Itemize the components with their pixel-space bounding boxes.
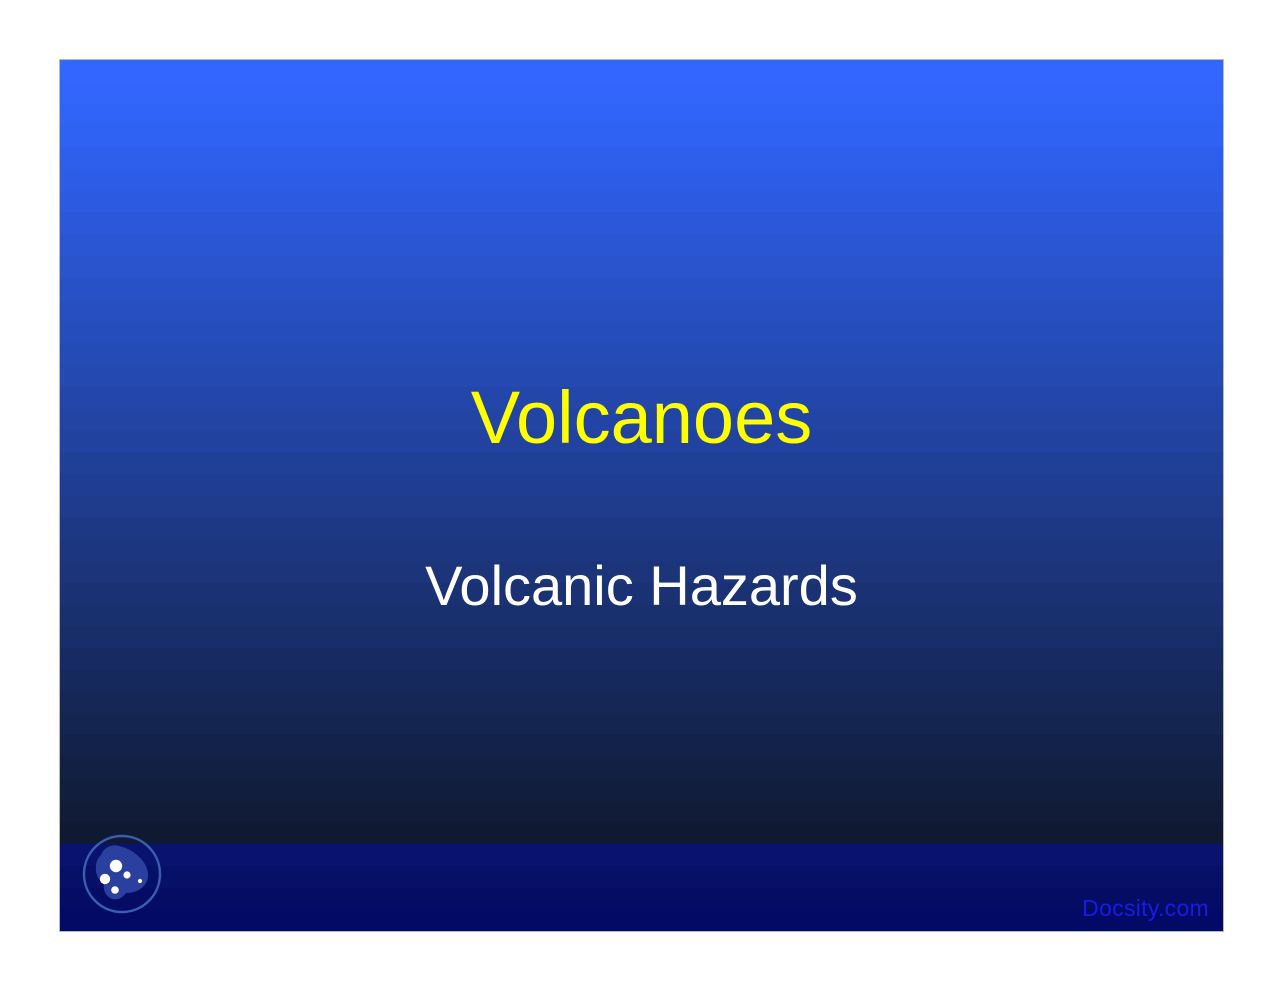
presentation-slide: Volcanoes Volcanic Hazards Docsity.com (59, 59, 1224, 932)
logo-dot-1 (110, 860, 122, 872)
watermark-label: Docsity.com (1082, 897, 1209, 920)
slide-title: Volcanoes (60, 379, 1223, 457)
logo-dot-4 (111, 886, 119, 894)
slide-content: Volcanoes Volcanic Hazards (60, 60, 1223, 931)
docsity-logo-icon (74, 826, 170, 922)
docsity-logo (74, 826, 170, 922)
logo-dot-3 (123, 871, 130, 878)
slide-subtitle: Volcanic Hazards (60, 557, 1223, 616)
logo-blob (96, 845, 148, 899)
logo-dot-5 (138, 879, 142, 883)
logo-dot-2 (100, 874, 110, 884)
